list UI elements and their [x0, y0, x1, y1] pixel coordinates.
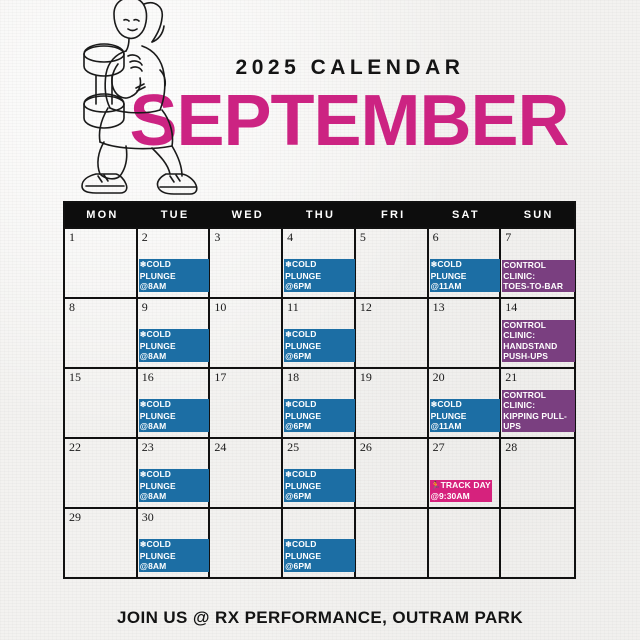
day-cell-20[interactable]: 20❄COLD PLUNGE @11AM	[429, 369, 502, 437]
day-number: 30	[142, 511, 209, 524]
calendar-week-row: 1516❄COLD PLUNGE @8AM1718❄COLD PLUNGE @6…	[65, 367, 574, 437]
day-cell-29[interactable]: 29	[65, 509, 138, 577]
snowflake-icon: ❄	[285, 400, 292, 409]
day-cell-12[interactable]: 12	[356, 299, 429, 367]
poster-header: 2025 CALENDAR SEPTEMBER	[0, 0, 640, 195]
day-cell-14[interactable]: 14CONTROL CLINIC: HANDSTAND PUSH-UPS	[501, 299, 574, 367]
calendar-week-row: 89❄COLD PLUNGE @8AM1011❄COLD PLUNGE @6PM…	[65, 297, 574, 367]
day-number: 2	[142, 231, 209, 244]
day-number: 26	[360, 441, 427, 454]
event-badge-cold[interactable]: ❄COLD PLUNGE @8AM	[139, 399, 210, 432]
day-number: 22	[69, 441, 136, 454]
day-cell-empty[interactable]	[501, 509, 574, 577]
weekday-header-sun: SUN	[501, 203, 574, 227]
day-cell-empty[interactable]: ❄COLD PLUNGE @6PM	[283, 509, 356, 577]
day-cell-2[interactable]: 2❄COLD PLUNGE @8AM	[138, 229, 211, 297]
weekday-header-row: MONTUEWEDTHUFRISATSUN	[65, 203, 574, 227]
day-number: 9	[142, 301, 209, 314]
day-cell-15[interactable]: 15	[65, 369, 138, 437]
event-label: CONTROL CLINIC: TOES-TO-BAR	[503, 260, 563, 291]
day-cell-9[interactable]: 9❄COLD PLUNGE @8AM	[138, 299, 211, 367]
day-events: ❄COLD PLUNGE @8AM	[139, 259, 210, 294]
day-cell-1[interactable]: 1	[65, 229, 138, 297]
day-number: 6	[433, 231, 500, 244]
day-cell-13[interactable]: 13	[429, 299, 502, 367]
day-events: ❄COLD PLUNGE @8AM	[139, 399, 210, 434]
day-cell-empty[interactable]	[210, 509, 283, 577]
weekday-header-tue: TUE	[138, 203, 211, 227]
day-number: 21	[505, 371, 574, 384]
day-cell-19[interactable]: 19	[356, 369, 429, 437]
event-badge-cold[interactable]: ❄COLD PLUNGE @8AM	[139, 539, 210, 572]
day-cell-4[interactable]: 4❄COLD PLUNGE @6PM	[283, 229, 356, 297]
day-events: ❄COLD PLUNGE @8AM	[139, 329, 210, 364]
weekday-header-fri: FRI	[356, 203, 429, 227]
calendar-week-row: 2930❄COLD PLUNGE @8AM❄COLD PLUNGE @6PM	[65, 507, 574, 577]
event-badge-cold[interactable]: ❄COLD PLUNGE @8AM	[139, 259, 210, 292]
day-cell-23[interactable]: 23❄COLD PLUNGE @8AM	[138, 439, 211, 507]
day-cell-21[interactable]: 21CONTROL CLINIC: KIPPING PULL- UPS	[501, 369, 574, 437]
day-cell-27[interactable]: 27🏃TRACK DAY @9:30AM	[429, 439, 502, 507]
day-cell-10[interactable]: 10	[210, 299, 283, 367]
day-cell-7[interactable]: 7CONTROL CLINIC: TOES-TO-BAR	[501, 229, 574, 297]
day-events: ❄COLD PLUNGE @6PM	[284, 539, 355, 574]
day-number: 18	[287, 371, 354, 384]
day-cell-17[interactable]: 17	[210, 369, 283, 437]
snowflake-icon: ❄	[140, 400, 147, 409]
event-label: CONTROL CLINIC: HANDSTAND PUSH-UPS	[503, 320, 557, 362]
day-number: 7	[505, 231, 574, 244]
calendar-poster: 2025 CALENDAR SEPTEMBER MONTUEWEDTHUFRIS…	[0, 0, 640, 640]
day-events: ❄COLD PLUNGE @6PM	[284, 399, 355, 434]
snowflake-icon: ❄	[140, 330, 147, 339]
day-cell-empty[interactable]	[356, 509, 429, 577]
athlete-squat-dumbbell-illustration	[74, 0, 199, 196]
day-cell-18[interactable]: 18❄COLD PLUNGE @6PM	[283, 369, 356, 437]
runner-icon: 🏃	[431, 481, 441, 490]
weekday-header-wed: WED	[210, 203, 283, 227]
snowflake-icon: ❄	[285, 470, 292, 479]
day-cell-empty[interactable]	[429, 509, 502, 577]
event-badge-cold[interactable]: ❄COLD PLUNGE @6PM	[284, 259, 355, 292]
day-number: 3	[214, 231, 281, 244]
day-number: 14	[505, 301, 574, 314]
day-events: ❄COLD PLUNGE @6PM	[284, 259, 355, 294]
snowflake-icon: ❄	[285, 260, 292, 269]
day-cell-28[interactable]: 28	[501, 439, 574, 507]
event-badge-track[interactable]: 🏃TRACK DAY @9:30AM	[430, 480, 492, 502]
day-number: 4	[287, 231, 354, 244]
day-events: CONTROL CLINIC: KIPPING PULL- UPS	[502, 390, 575, 435]
snowflake-icon: ❄	[285, 330, 292, 339]
day-number: 20	[433, 371, 500, 384]
day-number: 13	[433, 301, 500, 314]
day-events: ❄COLD PLUNGE @8AM	[139, 539, 210, 574]
day-number: 16	[142, 371, 209, 384]
day-events: 🏃TRACK DAY @9:30AM	[430, 480, 501, 505]
event-badge-cold[interactable]: ❄COLD PLUNGE @6PM	[284, 539, 355, 572]
day-number: 5	[360, 231, 427, 244]
calendar-week-row: 2223❄COLD PLUNGE @8AM2425❄COLD PLUNGE @6…	[65, 437, 574, 507]
day-cell-30[interactable]: 30❄COLD PLUNGE @8AM	[138, 509, 211, 577]
event-badge-cold[interactable]: ❄COLD PLUNGE @8AM	[139, 469, 210, 502]
snowflake-icon: ❄	[285, 540, 292, 549]
day-number: 19	[360, 371, 427, 384]
calendar-weeks: 12❄COLD PLUNGE @8AM34❄COLD PLUNGE @6PM56…	[65, 227, 574, 577]
day-cell-16[interactable]: 16❄COLD PLUNGE @8AM	[138, 369, 211, 437]
day-cell-6[interactable]: 6❄COLD PLUNGE @11AM	[429, 229, 502, 297]
day-number: 12	[360, 301, 427, 314]
day-events: ❄COLD PLUNGE @11AM	[430, 259, 501, 294]
day-number: 8	[69, 301, 136, 314]
day-cell-5[interactable]: 5	[356, 229, 429, 297]
day-events: ❄COLD PLUNGE @11AM	[430, 399, 501, 434]
day-number: 27	[433, 441, 500, 454]
day-cell-24[interactable]: 24	[210, 439, 283, 507]
day-number: 11	[287, 301, 354, 314]
event-label: CONTROL CLINIC: KIPPING PULL- UPS	[503, 390, 567, 432]
event-badge-cold[interactable]: ❄COLD PLUNGE @6PM	[284, 469, 355, 502]
day-number: 29	[69, 511, 136, 524]
event-badge-clinic[interactable]: CONTROL CLINIC: TOES-TO-BAR	[502, 260, 575, 292]
day-events: CONTROL CLINIC: HANDSTAND PUSH-UPS	[502, 320, 575, 365]
weekday-header-sat: SAT	[429, 203, 502, 227]
day-events: ❄COLD PLUNGE @6PM	[284, 469, 355, 504]
day-cell-8[interactable]: 8	[65, 299, 138, 367]
day-number: 24	[214, 441, 281, 454]
event-badge-clinic[interactable]: CONTROL CLINIC: HANDSTAND PUSH-UPS	[502, 320, 575, 362]
snowflake-icon: ❄	[140, 540, 147, 549]
event-badge-cold[interactable]: ❄COLD PLUNGE @11AM	[430, 399, 501, 432]
day-number: 25	[287, 441, 354, 454]
day-events: ❄COLD PLUNGE @6PM	[284, 329, 355, 364]
day-number: 10	[214, 301, 281, 314]
day-events: ❄COLD PLUNGE @8AM	[139, 469, 210, 504]
day-number: 28	[505, 441, 574, 454]
weekday-header-mon: MON	[65, 203, 138, 227]
snowflake-icon: ❄	[140, 260, 147, 269]
day-cell-26[interactable]: 26	[356, 439, 429, 507]
event-badge-cold[interactable]: ❄COLD PLUNGE @8AM	[139, 329, 210, 362]
day-cell-25[interactable]: 25❄COLD PLUNGE @6PM	[283, 439, 356, 507]
day-number: 15	[69, 371, 136, 384]
day-cell-11[interactable]: 11❄COLD PLUNGE @6PM	[283, 299, 356, 367]
weekday-header-thu: THU	[283, 203, 356, 227]
event-badge-cold[interactable]: ❄COLD PLUNGE @6PM	[284, 399, 355, 432]
day-number: 1	[69, 231, 136, 244]
calendar-grid: MONTUEWEDTHUFRISATSUN 12❄COLD PLUNGE @8A…	[63, 201, 576, 579]
event-badge-clinic[interactable]: CONTROL CLINIC: KIPPING PULL- UPS	[502, 390, 575, 432]
day-cell-3[interactable]: 3	[210, 229, 283, 297]
calendar-week-row: 12❄COLD PLUNGE @8AM34❄COLD PLUNGE @6PM56…	[65, 227, 574, 297]
day-cell-22[interactable]: 22	[65, 439, 138, 507]
day-number: 23	[142, 441, 209, 454]
day-events: CONTROL CLINIC: TOES-TO-BAR	[502, 260, 575, 294]
snowflake-icon: ❄	[140, 470, 147, 479]
day-number: 17	[214, 371, 281, 384]
footer-location-text: JOIN US @ RX PERFORMANCE, OUTRAM PARK	[0, 608, 640, 628]
event-badge-cold[interactable]: ❄COLD PLUNGE @6PM	[284, 329, 355, 362]
event-badge-cold[interactable]: ❄COLD PLUNGE @11AM	[430, 259, 501, 292]
